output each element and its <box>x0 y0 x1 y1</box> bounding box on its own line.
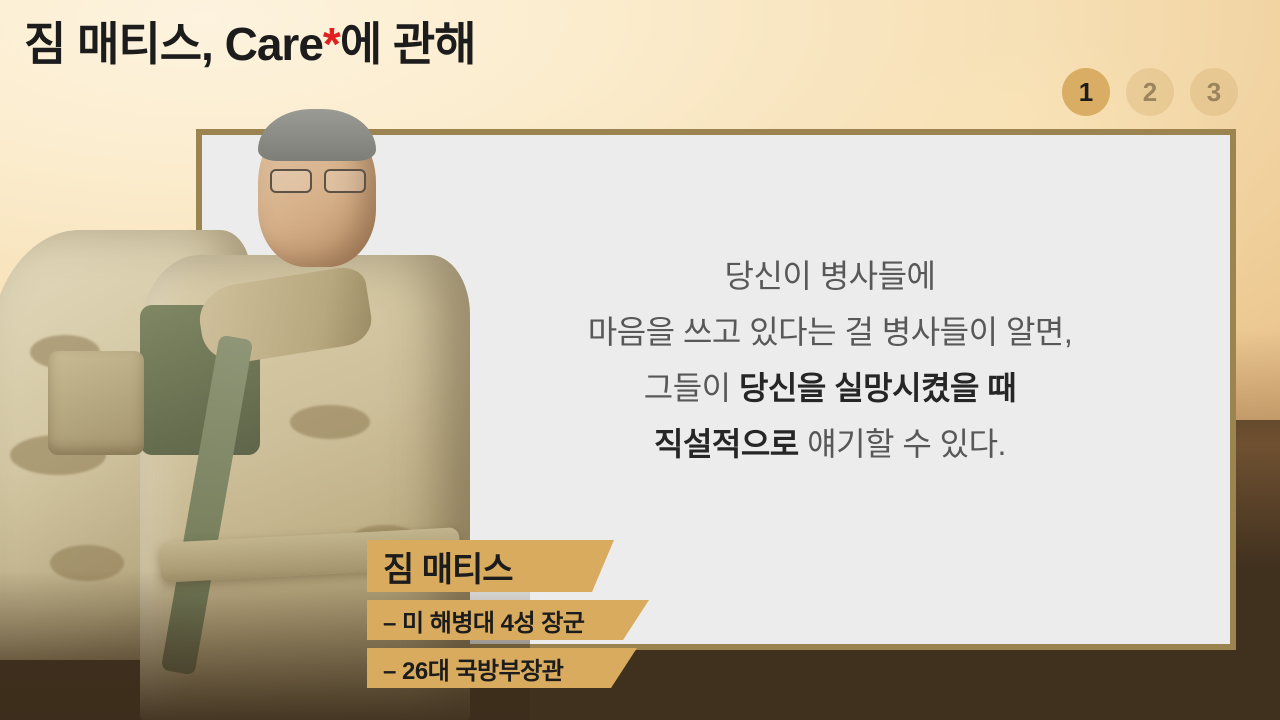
quote-line-4: 직설적으로 얘기할 수 있다. <box>520 416 1140 472</box>
name-card: 짐 매티스 – 미 해병대 4성 장군 – 26대 국방부장관 <box>367 540 649 688</box>
name-card-title: 짐 매티스 <box>367 540 614 592</box>
pagination-dot-3-label: 3 <box>1207 77 1221 108</box>
name-card-credential-2: – 26대 국방부장관 <box>367 648 637 688</box>
pagination-dot-1[interactable]: 1 <box>1062 68 1110 116</box>
quote-line-3: 그들이 당신을 실망시켰을 때 <box>520 360 1140 416</box>
pagination-dot-1-label: 1 <box>1079 77 1093 108</box>
slide-root: 짐 매티스, Care*에 관해 1 2 3 당신이 병사들에 마음을 쓰고 있… <box>0 0 1280 720</box>
name-card-credential-1: – 미 해병대 4성 장군 <box>367 600 649 640</box>
quote-line-1: 당신이 병사들에 <box>520 248 1140 304</box>
page-title-suffix: 에 관해 <box>340 18 476 70</box>
quote-block: 당신이 병사들에 마음을 쓰고 있다는 걸 병사들이 알면, 그들이 당신을 실… <box>520 248 1140 472</box>
glasses-icon <box>270 169 366 189</box>
page-title: 짐 매티스, Care*에 관해 <box>24 16 476 74</box>
asterisk-marker: * <box>323 18 340 70</box>
quote-line-4-emphasis: 직설적으로 <box>654 426 799 462</box>
quote-line-3-emphasis: 당신을 실망시켰을 때 <box>739 370 1016 406</box>
pouch-shape <box>48 351 144 455</box>
pagination-dot-2[interactable]: 2 <box>1126 68 1174 116</box>
page-title-prefix: 짐 매티스, Care <box>24 18 323 70</box>
pagination-dot-3[interactable]: 3 <box>1190 68 1238 116</box>
quote-line-2: 마음을 쓰고 있다는 걸 병사들이 알면, <box>520 304 1140 360</box>
quote-line-4-normal: 얘기할 수 있다. <box>799 426 1006 462</box>
pagination-dot-2-label: 2 <box>1143 77 1157 108</box>
camo-patch <box>290 405 370 439</box>
pagination[interactable]: 1 2 3 <box>1062 68 1238 116</box>
quote-line-3-normal: 그들이 <box>644 370 739 406</box>
hair-shape <box>258 109 376 161</box>
